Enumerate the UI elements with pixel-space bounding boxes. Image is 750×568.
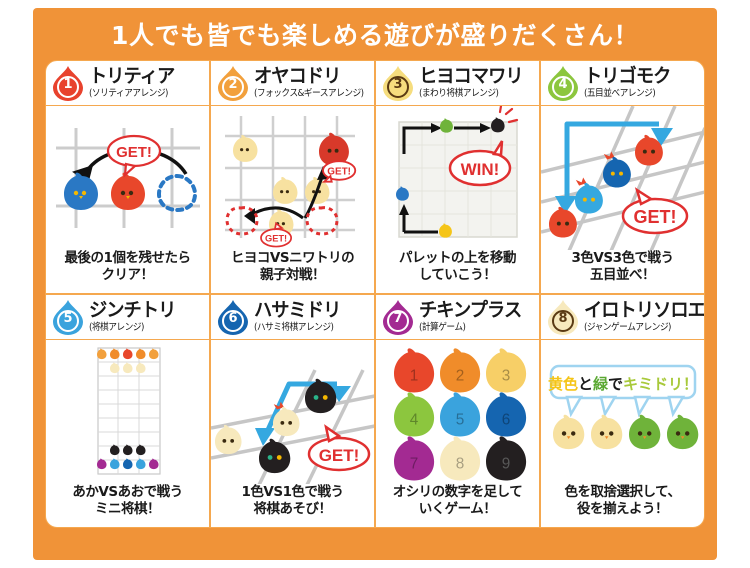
chicken-piece-icon bbox=[667, 415, 698, 449]
card-header-5: 5 ジンチトリ (将棋アレンジ) bbox=[46, 295, 209, 340]
card-caption-5: あかVSあおで戦う ミニ将棋！ bbox=[46, 484, 209, 527]
chicken-piece-icon bbox=[591, 415, 622, 449]
card-header-7: 7 チキンプラス (計算ゲーム) bbox=[376, 295, 539, 340]
card-caption-3: パレットの上を移動 していこう！ bbox=[376, 250, 539, 293]
game-subtitle-6: (ハサミ将棋アレンジ) bbox=[254, 323, 337, 333]
card-header-6: 6 ハサミドリ (ハサミ将棋アレンジ) bbox=[211, 295, 374, 340]
speech-bubble-tail-icon bbox=[567, 397, 581, 414]
card-art-7: 123456789 bbox=[376, 340, 539, 484]
chicken-number-label: 5 bbox=[456, 412, 465, 429]
speech-bubble-tail-icon bbox=[635, 397, 649, 414]
game-name-2: オヤコドリ bbox=[254, 67, 368, 86]
game-card-5[interactable]: 5 ジンチトリ (将棋アレンジ) bbox=[45, 294, 210, 528]
chicken-piece-icon: 2 bbox=[440, 348, 480, 392]
card-caption-2: ヒヨコVSニワトリの 親子対戦！ bbox=[211, 250, 374, 293]
chicken-piece-icon: 8 bbox=[440, 436, 480, 480]
chicken-piece-icon bbox=[553, 415, 584, 449]
chicken-number-label: 3 bbox=[502, 368, 511, 385]
chicken-piece-icon: 6 bbox=[486, 392, 526, 436]
card-art-8: 黄色と緑でキミドリ！ bbox=[541, 340, 704, 484]
game-name-1: トリティア bbox=[89, 67, 174, 86]
game-subtitle-3: (まわり将棋アレンジ) bbox=[419, 89, 518, 99]
card-art-4: GET! bbox=[541, 106, 704, 250]
badge-label-4: 4 bbox=[546, 65, 580, 101]
chicken-piece-icon: 7 bbox=[394, 436, 434, 480]
badge-number-1-icon: 1 bbox=[51, 65, 85, 101]
chicken-piece-icon: 1 bbox=[394, 348, 434, 392]
card-art-1: GET! bbox=[46, 106, 209, 250]
game-name-8: イロトリソロエ bbox=[584, 301, 699, 320]
game-card-6[interactable]: 6 ハサミドリ (ハサミ将棋アレンジ) bbox=[210, 294, 375, 528]
game-name-4: トリゴモク bbox=[584, 67, 670, 86]
speech-bubble-tail-icon bbox=[669, 397, 683, 414]
chicken-number-label: 8 bbox=[456, 456, 465, 473]
card-art-3: WIN! bbox=[376, 106, 539, 250]
game-name-5: ジンチトリ bbox=[89, 301, 175, 320]
badge-number-2-icon: 2 bbox=[216, 65, 250, 101]
badge-label-8: 8 bbox=[546, 299, 580, 335]
svg-text:GET!: GET! bbox=[319, 446, 360, 465]
chicken-number-label: 1 bbox=[410, 368, 419, 385]
game-card-1[interactable]: 1 トリティア (ソリティアアレンジ) bbox=[45, 60, 210, 294]
badge-number-3-icon: 3 bbox=[381, 65, 415, 101]
badge-number-8-icon: 8 bbox=[546, 299, 580, 335]
chicken-piece-icon: 3 bbox=[486, 348, 526, 392]
game-card-3[interactable]: 3 ヒヨコマワリ (まわり将棋アレンジ) bbox=[375, 60, 540, 294]
card-header-8: 8 イロトリソロエ (ジャンゲームアレンジ) bbox=[541, 295, 704, 340]
game-subtitle-7: (計算ゲーム) bbox=[419, 323, 517, 333]
badge-label-5: 5 bbox=[51, 299, 85, 335]
chicken-piece-icon: 4 bbox=[394, 392, 434, 436]
speech-bubble-tail-icon bbox=[601, 397, 615, 414]
card-caption-1: 最後の1個を残せたら クリア！ bbox=[46, 250, 209, 293]
badge-label-3: 3 bbox=[381, 65, 415, 101]
card-header-1: 1 トリティア (ソリティアアレンジ) bbox=[46, 61, 209, 106]
svg-text:GET!: GET! bbox=[634, 207, 677, 227]
game-card-7[interactable]: 7 チキンプラス (計算ゲーム) 123456789 オシリの数字を足して いく… bbox=[375, 294, 540, 528]
game-name-7: チキンプラス bbox=[419, 301, 521, 320]
game-subtitle-5: (将棋アレンジ) bbox=[89, 323, 172, 333]
game-name-6: ハサミドリ bbox=[254, 301, 340, 320]
chicken-number-label: 6 bbox=[502, 412, 511, 429]
poster-background: 1人でも皆でも楽しめる遊びが盛りだくさん！ 1 トリティア (ソリティアアレンジ… bbox=[33, 8, 717, 560]
chicken-number-label: 9 bbox=[502, 456, 511, 473]
svg-text:GET!: GET! bbox=[327, 166, 351, 177]
chicken-piece-icon: 9 bbox=[486, 436, 526, 480]
game-subtitle-4: (五目並べアレンジ) bbox=[584, 89, 667, 99]
game-subtitle-8: (ジャンゲームアレンジ) bbox=[584, 323, 694, 333]
chicken-number-label: 4 bbox=[410, 412, 419, 429]
game-subtitle-2: (フォックス&ギースアレンジ) bbox=[254, 89, 364, 99]
chicken-number-label: 7 bbox=[410, 456, 419, 473]
badge-label-1: 1 bbox=[51, 65, 85, 101]
chicken-piece-icon: 5 bbox=[440, 392, 480, 436]
game-card-grid: 1 トリティア (ソリティアアレンジ) bbox=[45, 60, 705, 528]
card-art-5 bbox=[46, 340, 209, 484]
svg-text:GET!: GET! bbox=[265, 233, 287, 243]
badge-number-4-icon: 4 bbox=[546, 65, 580, 101]
badge-number-5-icon: 5 bbox=[51, 299, 85, 335]
chicken-piece-icon bbox=[629, 415, 660, 449]
badge-number-6-icon: 6 bbox=[216, 299, 250, 335]
badge-label-7: 7 bbox=[381, 299, 415, 335]
page-title: 1人でも皆でも楽しめる遊びが盛りだくさん！ bbox=[33, 8, 717, 60]
card-caption-7: オシリの数字を足して いくゲーム！ bbox=[376, 484, 539, 527]
game-name-3: ヒヨコマワリ bbox=[419, 67, 523, 86]
game-card-8[interactable]: 8 イロトリソロエ (ジャンゲームアレンジ) 黄色と緑でキミドリ！ 色を取捨選択… bbox=[540, 294, 705, 528]
card-art-6: GET! bbox=[211, 340, 374, 484]
game-card-4[interactable]: 4 トリゴモク (五目並べアレンジ) bbox=[540, 60, 705, 294]
card-header-4: 4 トリゴモク (五目並べアレンジ) bbox=[541, 61, 704, 106]
badge-number-7-icon: 7 bbox=[381, 299, 415, 335]
game-card-2[interactable]: 2 オヤコドリ (フォックス&ギースアレンジ) bbox=[210, 60, 375, 294]
badge-label-6: 6 bbox=[216, 299, 250, 335]
card-caption-8: 色を取捨選択して、 役を揃えよう！ bbox=[541, 484, 704, 527]
card-caption-6: 1色VS1色で戦う 将棋あそび！ bbox=[211, 484, 374, 527]
card-header-3: 3 ヒヨコマワリ (まわり将棋アレンジ) bbox=[376, 61, 539, 106]
badge-label-2: 2 bbox=[216, 65, 250, 101]
svg-text:GET!: GET! bbox=[116, 144, 152, 161]
game-subtitle-1: (ソリティアアレンジ) bbox=[89, 89, 171, 99]
svg-text:WIN!: WIN! bbox=[461, 160, 500, 179]
card-header-2: 2 オヤコドリ (フォックス&ギースアレンジ) bbox=[211, 61, 374, 106]
bubble-text: 黄色と緑でキミドリ！ bbox=[548, 375, 698, 393]
card-art-2: GET! GET! bbox=[211, 106, 374, 250]
card-caption-4: 3色VS3色で戦う 五目並べ！ bbox=[541, 250, 704, 293]
chicken-number-label: 2 bbox=[456, 368, 465, 385]
